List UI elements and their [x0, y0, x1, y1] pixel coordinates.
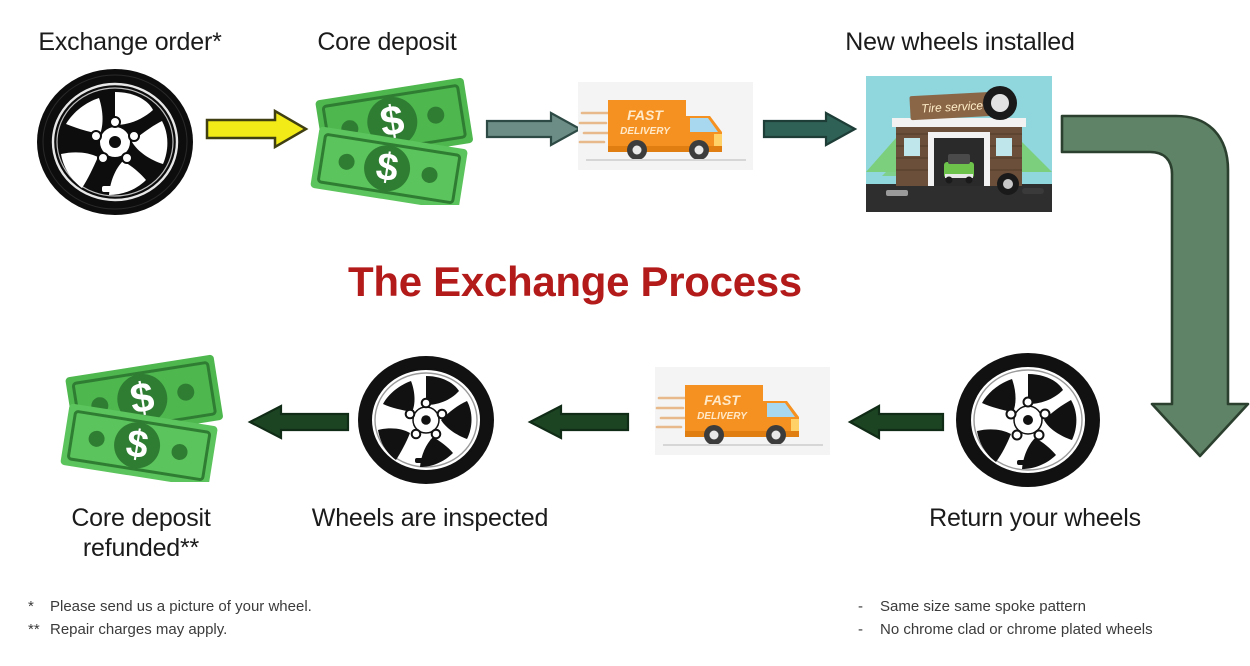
svg-text:DELIVERY: DELIVERY — [620, 126, 671, 137]
footnote-item: -Same size same spoke pattern — [858, 595, 1153, 618]
footnote-text: Please send us a picture of your wheel. — [50, 598, 312, 615]
svg-text:FAST: FAST — [704, 392, 741, 408]
footnote-item: -No chrome clad or chrome plated wheels — [858, 618, 1153, 641]
arrow-order-to-deposit — [205, 108, 310, 150]
step-label-core-deposit: Core deposit — [272, 28, 502, 58]
step-label-core-deposit-refunded: Core deposit refunded** — [28, 504, 254, 563]
step-label-new-wheels-installed: New wheels installed — [800, 28, 1120, 58]
footnote-mark: * — [28, 595, 50, 618]
footnote-item: *Please send us a picture of your wheel. — [28, 595, 312, 618]
svg-text:DELIVERY: DELIVERY — [697, 411, 748, 422]
exchange-process-diagram: Exchange order* Core deposit New wheels … — [0, 0, 1250, 666]
footnote-text: No chrome clad or chrome plated wheels — [880, 621, 1153, 638]
footnote-mark: - — [858, 595, 880, 618]
money-icon: $ $ — [305, 75, 480, 205]
footnote-text: Same size same spoke pattern — [880, 598, 1086, 615]
step-label-return-your-wheels: Return your wheels — [900, 504, 1170, 534]
footnote-text: Repair charges may apply. — [50, 621, 227, 638]
footnote-mark: - — [858, 618, 880, 641]
footnote-mark: ** — [28, 618, 50, 641]
page-title: The Exchange Process — [348, 258, 802, 306]
tire-service-shop-icon: Tire service — [866, 76, 1052, 212]
arrow-truck-to-inspected — [525, 403, 630, 441]
wheel-silver-icon — [955, 352, 1101, 488]
arrow-deposit-to-truck — [485, 110, 583, 148]
money-icon: $ $ — [55, 352, 230, 482]
step-label-exchange-order: Exchange order* — [0, 28, 260, 58]
svg-text:FAST: FAST — [627, 107, 664, 123]
footnotes-left: *Please send us a picture of your wheel.… — [28, 595, 312, 642]
arrow-return-to-truck — [845, 403, 945, 441]
delivery-truck-icon: FAST DELIVERY — [578, 82, 753, 170]
arrow-truck-to-shop — [762, 110, 858, 148]
wheel-black-icon — [36, 68, 194, 216]
step-label-wheels-inspected: Wheels are inspected — [300, 504, 560, 534]
wheel-silver-icon — [357, 355, 495, 485]
footnotes-right: -Same size same spoke pattern -No chrome… — [858, 595, 1153, 642]
arrow-inspected-to-refund — [245, 403, 350, 441]
delivery-truck-icon: FAST DELIVERY — [655, 367, 830, 455]
footnote-item: **Repair charges may apply. — [28, 618, 312, 641]
